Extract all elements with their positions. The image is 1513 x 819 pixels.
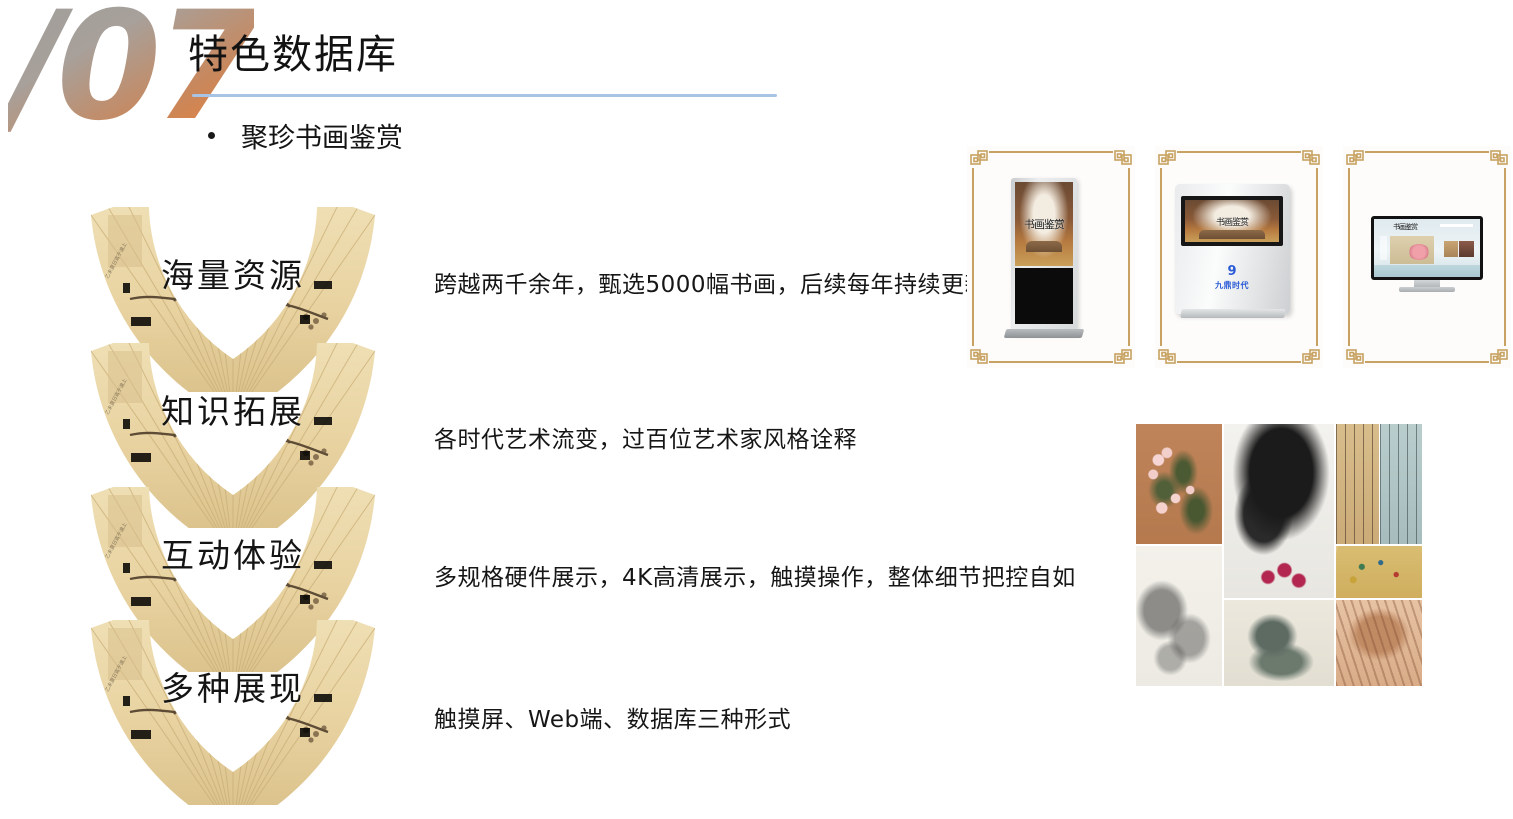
feature-description-3: 多规格硬件展示，4K高清展示，触摸操作，整体细节把控自如	[434, 558, 1076, 592]
svg-text:畫: 畫	[250, 253, 257, 262]
painting-tile-grey-mountain[interactable]	[1224, 600, 1334, 686]
monitor-bezel: 书画鉴赏	[1371, 216, 1483, 280]
device-panel-vertical-kiosk[interactable]: 书画鉴赏	[967, 146, 1135, 368]
painting-tile-red-mountain[interactable]	[1336, 600, 1422, 686]
frame-line-right	[1316, 168, 1318, 346]
brand-name: 九鼎时代	[1215, 280, 1249, 291]
kiosk-screen-menu-bar	[1199, 230, 1265, 239]
painting-tile-court-scene[interactable]	[1336, 546, 1422, 598]
kiosk-body: 书画鉴赏 9 九鼎时代	[1175, 184, 1290, 314]
svg-text:畫: 畫	[250, 389, 257, 398]
corner-ornament-icon	[1299, 344, 1321, 366]
painting-tile-ink-mountain[interactable]	[1224, 424, 1334, 598]
corner-ornament-icon	[1345, 148, 1367, 170]
frame-line-right	[1128, 168, 1130, 346]
brand-number: 9	[1227, 264, 1236, 279]
page-title: 特色数据库	[188, 22, 398, 80]
frame-line-bottom	[1365, 361, 1489, 363]
kiosk-body: 书画鉴赏	[1011, 178, 1077, 334]
kiosk-brand-plate: 9 九鼎时代	[1181, 254, 1283, 300]
frame-line-bottom	[1177, 361, 1301, 363]
feature-description-2: 各时代艺术流变，过百位艺术家风格诠释	[434, 420, 857, 454]
kiosk-screen-bezel: 书画鉴赏	[1181, 196, 1283, 246]
svg-text:題: 題	[246, 382, 253, 390]
corner-ornament-icon	[1487, 148, 1509, 170]
feature-description-1: 跨越两千余年，甄选5000幅书画，后续每年持续更新。	[434, 265, 1012, 299]
screen-foreground-water	[1374, 265, 1480, 277]
subtitle-text: 聚珍书画鉴赏	[241, 116, 403, 155]
frame-line-top	[1365, 151, 1489, 153]
feature-fan-4[interactable]: 題 畫 乙未夏日寫于滬上 多种展现	[78, 620, 388, 805]
fan-shape-icon: 題 畫 乙未夏日寫于滬上	[78, 620, 388, 805]
frame-line-left	[972, 168, 974, 346]
svg-text:題: 題	[246, 659, 253, 667]
kiosk-base	[1180, 309, 1286, 318]
monitor-neck	[1414, 280, 1440, 287]
frame-line-top	[989, 151, 1113, 153]
svg-text:畫: 畫	[250, 666, 257, 675]
svg-text:畫: 畫	[250, 533, 257, 542]
painting-tile-calligraphy-pair[interactable]	[1336, 424, 1422, 544]
site-logo-text: 书画鉴赏	[1393, 222, 1417, 232]
corner-ornament-icon	[1111, 148, 1133, 170]
kiosk-screen-top: 书画鉴赏	[1015, 182, 1073, 266]
corner-ornament-icon	[1345, 344, 1367, 366]
corner-ornament-icon	[969, 344, 991, 366]
corner-ornament-icon	[1111, 344, 1133, 366]
subtitle-bullet-row: 聚珍书画鉴赏	[208, 116, 403, 155]
frame-line-left	[1160, 168, 1162, 346]
kiosk-screen-menu-bar	[1026, 241, 1062, 252]
corner-ornament-icon	[1487, 344, 1509, 366]
feature-description-4: 触摸屏、Web端、数据库三种形式	[434, 700, 791, 734]
svg-text:題: 題	[246, 246, 253, 254]
site-nav-bar[interactable]	[1440, 224, 1473, 227]
painting-collage[interactable]	[1136, 424, 1420, 682]
device-panel-horizontal-kiosk[interactable]: 书画鉴赏 9 九鼎时代	[1155, 146, 1323, 368]
slide-root: /07 特色数据库 聚珍书画鉴赏	[0, 0, 1513, 819]
painting-sidebar	[1380, 236, 1387, 260]
frame-line-top	[1177, 151, 1301, 153]
painting-tile-ink-sketch-landscape[interactable]	[1136, 546, 1222, 686]
painting-tile-flowering-branch[interactable]	[1136, 424, 1222, 544]
kiosk-screen-title: 书画鉴赏	[1216, 215, 1248, 228]
painting-thumb-1[interactable]	[1459, 241, 1474, 257]
device-panel-desktop-monitor[interactable]: 书画鉴赏	[1343, 146, 1511, 368]
corner-ornament-icon	[969, 148, 991, 170]
corner-ornament-icon	[1157, 148, 1179, 170]
monitor-stand	[1399, 287, 1455, 292]
corner-ornament-icon	[1299, 148, 1321, 170]
kiosk-screen-title: 书画鉴赏	[1024, 216, 1064, 232]
bullet-dot-icon	[208, 132, 215, 139]
corner-ornament-icon	[1157, 344, 1179, 366]
kiosk-screen-bottom	[1015, 268, 1073, 324]
painting-flower-detail	[1408, 244, 1430, 260]
kiosk-screen: 书画鉴赏	[1185, 200, 1279, 242]
monitor-screen: 书画鉴赏	[1374, 219, 1480, 277]
title-divider	[192, 94, 777, 97]
painting-thumb-2[interactable]	[1444, 241, 1458, 257]
painting-tile-calligraphy-blue[interactable]	[1380, 424, 1423, 544]
painting-tile-calligraphy-tan[interactable]	[1336, 424, 1379, 544]
svg-text:題: 題	[246, 526, 253, 534]
monitor-body: 书画鉴赏	[1371, 216, 1483, 288]
painting-thumb-large[interactable]	[1390, 236, 1434, 264]
frame-line-bottom	[989, 361, 1113, 363]
frame-line-left	[1348, 168, 1350, 346]
frame-line-right	[1504, 168, 1506, 346]
kiosk-base	[1004, 329, 1085, 338]
